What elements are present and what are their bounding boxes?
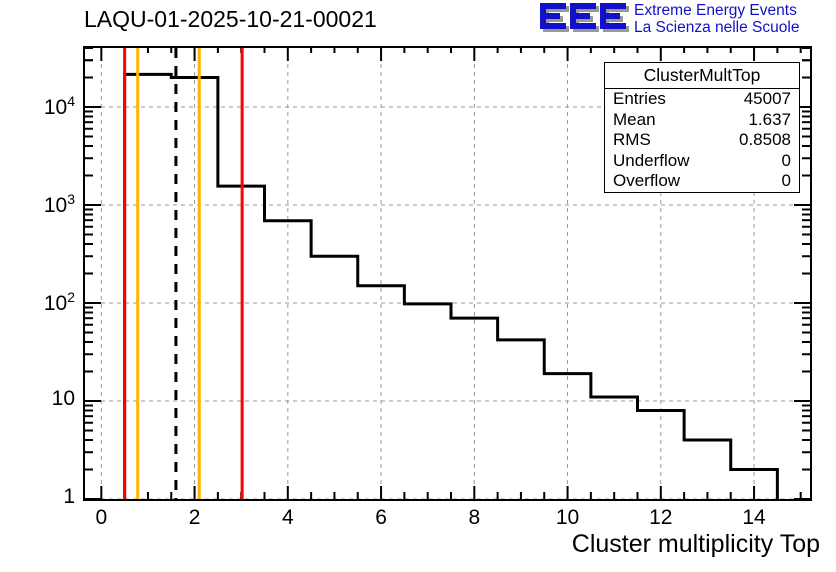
y-tick-mantissa: 10 — [44, 292, 67, 315]
eee-letters-icon — [540, 2, 630, 36]
x-axis-tick-label: 2 — [170, 506, 220, 530]
stats-row-value: 0 — [782, 171, 791, 192]
eee-tagline-line2: La Scienza nelle Scuole — [634, 19, 799, 36]
stats-row-value: 1.637 — [748, 110, 791, 131]
y-tick-mantissa: 10 — [44, 96, 67, 119]
stats-row: Entries45007 — [605, 89, 799, 110]
x-axis-tick-label: 14 — [729, 506, 779, 530]
stats-row-key: Overflow — [613, 171, 680, 192]
y-tick-mantissa: 10 — [44, 194, 67, 217]
x-axis-tick-label: 4 — [263, 506, 313, 530]
stats-row: RMS0.8508 — [605, 130, 799, 151]
y-axis-tick-label: 103 — [44, 191, 75, 218]
stats-rows: Entries45007Mean1.637RMS0.8508Underflow0… — [605, 89, 799, 192]
stats-title: ClusterMultTop — [605, 63, 799, 89]
stats-row-key: Entries — [613, 89, 666, 110]
stats-box: ClusterMultTop Entries45007Mean1.637RMS0… — [604, 62, 800, 193]
x-axis-tick-label: 8 — [449, 506, 499, 530]
y-axis-tick-label: 10 — [52, 387, 75, 411]
eee-tagline: Extreme Energy Events La Scienza nelle S… — [634, 2, 799, 36]
root-canvas: LAQU-01-2025-10-21-00021 — [0, 0, 836, 572]
y-axis-tick-label: 102 — [44, 289, 75, 316]
stats-row-key: RMS — [613, 130, 651, 151]
x-axis-tick-label: 0 — [76, 506, 126, 530]
stats-row: Underflow0 — [605, 151, 799, 172]
x-axis-title: Cluster multiplicity Top — [572, 530, 820, 559]
stats-row-value: 45007 — [744, 89, 791, 110]
stats-row: Overflow0 — [605, 171, 799, 192]
eee-tagline-line1: Extreme Energy Events — [634, 2, 799, 19]
x-axis-tick-label: 6 — [356, 506, 406, 530]
stats-row: Mean1.637 — [605, 110, 799, 131]
y-tick-exponent: 3 — [67, 191, 75, 207]
y-tick-exponent: 2 — [67, 289, 75, 305]
x-axis-tick-label: 12 — [636, 506, 686, 530]
eee-logo: Extreme Energy Events La Scienza nelle S… — [540, 2, 830, 38]
stats-row-key: Mean — [613, 110, 656, 131]
y-tick-exponent: 4 — [67, 93, 75, 109]
x-axis-tick-label: 10 — [543, 506, 593, 530]
y-axis-tick-label: 1 — [63, 485, 75, 509]
y-axis-tick-label: 104 — [44, 93, 75, 120]
stats-row-value: 0 — [782, 151, 791, 172]
stats-row-value: 0.8508 — [739, 130, 791, 151]
marker-lines — [125, 48, 242, 499]
page-title: LAQU-01-2025-10-21-00021 — [84, 6, 377, 33]
stats-row-key: Underflow — [613, 151, 690, 172]
